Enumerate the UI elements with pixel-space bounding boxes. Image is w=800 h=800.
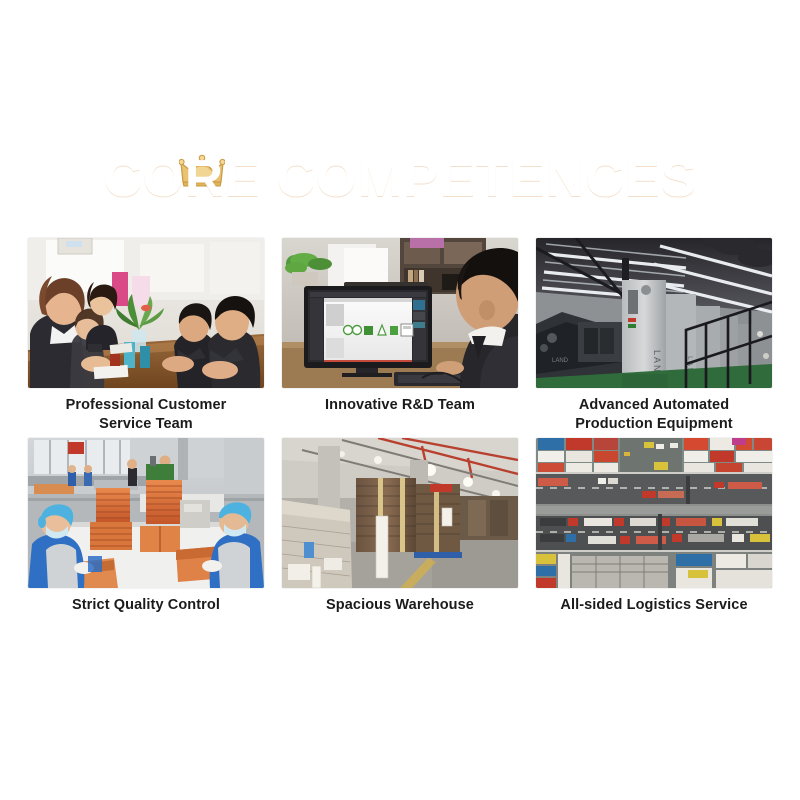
card-strict-quality-control[interactable]: Strict Quality Control [28,438,264,615]
card-advanced-automated-production-equipment[interactable]: LAND 800 LAND 800 LAND [536,238,772,434]
page-header: CORE COMPETENCES [0,150,800,208]
svg-text:LAND: LAND [552,358,569,364]
card-spacious-warehouse[interactable]: Spacious Warehouse [282,438,518,615]
innovative-rd-team-photo [282,238,518,388]
card-caption: Innovative R&D Team [282,396,518,415]
card-professional-customer-service-team[interactable]: Professional Customer Service Team [28,238,264,434]
professional-customer-service-team-photo [28,238,264,388]
card-caption: Professional Customer Service Team [28,396,264,434]
strict-quality-control-photo [28,438,264,588]
card-caption: Strict Quality Control [28,596,264,615]
caption-line-1: Professional Customer [66,397,227,413]
caption-line-1: Innovative R&D Team [325,397,475,413]
card-all-sided-logistics-service[interactable]: All-sided Logistics Service [536,438,772,615]
card-caption: Advanced Automated Production Equipment [536,396,772,434]
caption-line-2: Production Equipment [575,416,732,432]
caption-line-1: Strict Quality Control [72,597,220,613]
advanced-automated-production-equipment-photo: LAND 800 LAND 800 LAND [536,238,772,388]
card-innovative-rd-team[interactable]: Innovative R&D Team [282,238,518,434]
page-title: CORE COMPETENCES [103,150,697,208]
caption-line-1: Advanced Automated [579,397,729,413]
card-caption: Spacious Warehouse [282,596,518,615]
caption-line-2: Service Team [99,416,193,432]
card-caption: All-sided Logistics Service [536,596,772,615]
caption-line-1: Spacious Warehouse [326,597,474,613]
competences-grid: Professional Customer Service Team [28,238,772,615]
all-sided-logistics-service-photo [536,438,772,588]
caption-line-1: All-sided Logistics Service [560,597,747,613]
spacious-warehouse-photo [282,438,518,588]
